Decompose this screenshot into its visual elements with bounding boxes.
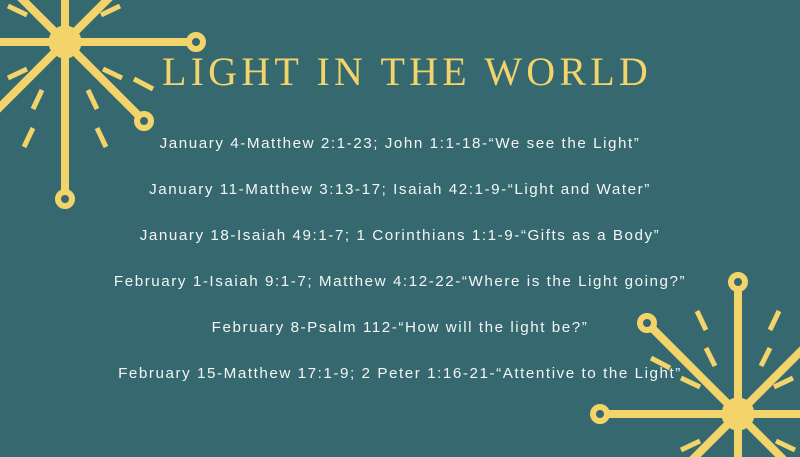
list-item: January 11-Matthew 3:13-17; Isaiah 42:1-… (0, 179, 800, 225)
page-title: LIGHT IN THE WORLD (0, 50, 800, 94)
list-item: February 8-Psalm 112-“How will the light… (0, 317, 800, 363)
poster-content: LIGHT IN THE WORLD January 4-Matthew 2:1… (0, 0, 800, 457)
list-item: February 1-Isaiah 9:1-7; Matthew 4:12-22… (0, 271, 800, 317)
list-item: February 15-Matthew 17:1-9; 2 Peter 1:16… (0, 363, 800, 409)
poster-canvas: LIGHT IN THE WORLD January 4-Matthew 2:1… (0, 0, 800, 457)
schedule-list: January 4-Matthew 2:1-23; John 1:1-18-“W… (0, 133, 800, 409)
list-item: January 4-Matthew 2:1-23; John 1:1-18-“W… (0, 133, 800, 179)
list-item: January 18-Isaiah 49:1-7; 1 Corinthians … (0, 225, 800, 271)
